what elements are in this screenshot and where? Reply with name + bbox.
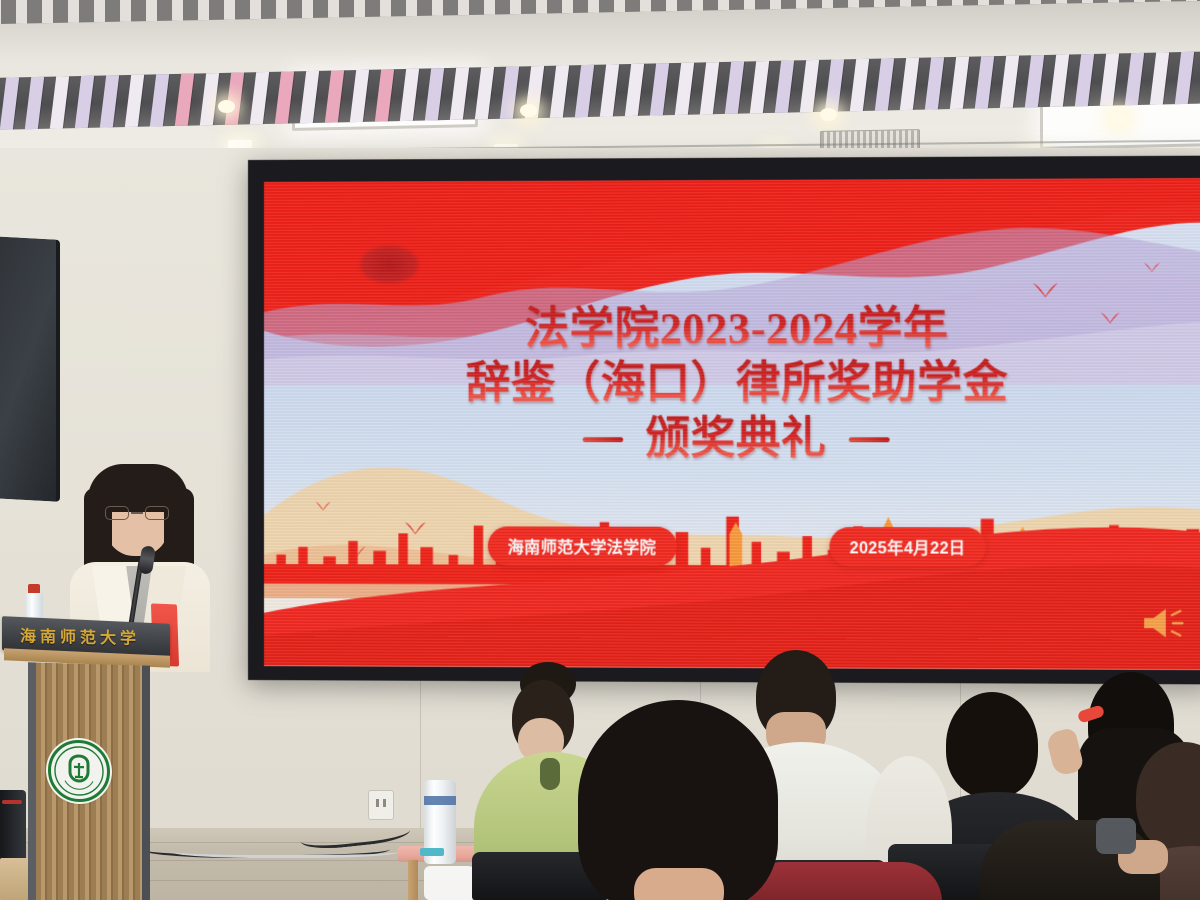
ceiling-baffle <box>449 65 469 123</box>
ceiling-baffle <box>574 62 594 120</box>
ceiling-slat <box>380 0 391 17</box>
ceiling-slat <box>432 0 443 16</box>
ceiling-slat <box>1082 0 1093 3</box>
ceiling-slat <box>562 0 573 13</box>
ceiling-baffle <box>1124 51 1144 108</box>
ceiling-slat <box>588 0 599 13</box>
ceiling-baffle <box>1149 51 1169 108</box>
ceiling-slat <box>848 0 859 8</box>
title-dash-right <box>849 437 890 442</box>
ceiling-slat <box>250 0 261 19</box>
podium-nameplate-text: 海南师范大学 <box>20 622 170 649</box>
date-badge: 2025年4月22日 <box>829 527 986 567</box>
ceiling-slat <box>770 0 781 9</box>
ceiling-baffle <box>74 73 94 130</box>
ceiling-baffle <box>924 54 944 112</box>
ceiling-baffle <box>474 64 494 122</box>
ceiling-baffle <box>974 53 994 111</box>
ceiling-baffle <box>799 57 819 115</box>
water-bottle-cap <box>28 584 40 593</box>
ceiling-slat <box>744 0 755 10</box>
ceiling-slat <box>978 0 989 5</box>
ceiling-baffle <box>699 59 719 117</box>
ceiling-slat <box>224 0 235 20</box>
ceiling-baffle <box>899 55 919 113</box>
ceiling-slat <box>328 0 339 18</box>
ceiling-baffle <box>24 74 44 130</box>
ceiling-spotlight-4 <box>1110 112 1127 125</box>
ceiling-slat <box>874 0 885 7</box>
collar-opening <box>540 758 560 790</box>
screen-title-block: 法学院2023-2024学年 辞鉴（海口）律所奖助学金 颁奖典礼 <box>264 301 1200 467</box>
ceiling-baffle <box>149 71 169 129</box>
ceiling-baffle <box>299 68 319 126</box>
ceiling-baffle <box>374 66 394 124</box>
ceiling-slat <box>718 0 729 10</box>
ceiling-slat <box>302 0 313 18</box>
ceiling-baffle <box>999 53 1019 111</box>
wall-power-outlet[interactable] <box>368 790 394 820</box>
ceiling-baffle <box>749 58 769 116</box>
ceiling-baffle <box>349 67 369 125</box>
ceiling-slat <box>146 0 157 21</box>
ceiling-slat <box>1030 0 1041 4</box>
ceiling-slat <box>1186 0 1197 1</box>
ceiling-baffle <box>324 67 344 125</box>
ceiling-slat <box>510 0 521 14</box>
podium: 海南师范大学 <box>6 620 166 900</box>
ceiling-slat <box>94 0 105 22</box>
ceiling-slat <box>692 0 703 11</box>
ceiling-baffle <box>1024 52 1044 110</box>
ceiling-slat <box>484 0 495 15</box>
ceiling-slat <box>926 0 937 6</box>
ceiling-slat <box>666 0 677 11</box>
head <box>1136 742 1200 852</box>
ceiling-baffle <box>1174 51 1194 107</box>
ceiling-baffle <box>874 55 894 113</box>
ceiling-baffle <box>399 66 419 124</box>
ceiling-baffle <box>124 72 144 130</box>
title-line-1: 法学院2023-2024学年 <box>264 301 1200 357</box>
ceiling-slat <box>354 0 365 17</box>
ceiling-slat <box>276 0 287 19</box>
head <box>946 692 1038 798</box>
university-emblem-graphic <box>53 744 105 797</box>
ceiling-baffle <box>624 61 644 119</box>
ceiling-slat <box>406 0 417 16</box>
ceiling-slat <box>0 0 1 24</box>
wall-display-dark[interactable] <box>0 236 60 502</box>
ceiling-baffle <box>1049 51 1069 109</box>
photo-scene: 法学院2023-2024学年 辞鉴（海口）律所奖助学金 颁奖典礼 海南师范大学法… <box>0 0 1200 900</box>
ceiling-slat <box>822 0 833 8</box>
handheld-device[interactable] <box>1096 818 1136 854</box>
university-emblem <box>48 739 110 803</box>
ceiling-baffle <box>249 69 269 127</box>
ceiling-baffle <box>499 63 519 121</box>
ceiling-slat <box>1160 0 1171 2</box>
led-display-screen[interactable]: 法学院2023-2024学年 辞鉴（海口）律所奖助学金 颁奖典礼 海南师范大学法… <box>248 156 1200 685</box>
ceiling-baffle <box>49 73 69 130</box>
ceiling-slat <box>120 0 131 22</box>
ceiling-slat <box>172 0 183 21</box>
ceiling-baffle <box>774 57 794 115</box>
ceiling-top-slats <box>0 0 1200 24</box>
title-line-3: 颁奖典礼 <box>646 412 827 466</box>
volume-speaker-icon[interactable] <box>1139 603 1186 644</box>
title-line-2: 辞鉴（海口）律所奖助学金 <box>264 356 1200 411</box>
ceiling-spotlight-2 <box>520 104 537 117</box>
ceiling-slat <box>198 0 209 20</box>
ceiling-baffle <box>549 62 569 120</box>
ceiling-slat <box>640 0 651 12</box>
ceiling-slat <box>1056 0 1067 4</box>
screen-badges: 海南师范大学法学院 2025年4月22日 <box>264 526 1200 567</box>
ceiling-slat <box>42 0 53 23</box>
ceiling-baffle <box>1074 51 1094 109</box>
thermos-band <box>424 796 456 805</box>
audience-person-foreground-center <box>560 700 820 900</box>
ceiling-slat <box>1134 0 1145 2</box>
ceiling-baffle <box>199 70 219 128</box>
ceiling-slat <box>16 0 27 24</box>
desk-leg <box>408 860 418 900</box>
ceiling-baffle <box>424 65 444 123</box>
ceiling-baffle <box>1099 51 1119 109</box>
ceiling-baffle <box>174 71 194 129</box>
ceiling-slat <box>796 0 807 9</box>
tissue-pack <box>424 866 478 900</box>
ceiling-slat <box>458 0 469 15</box>
ceiling-baffle <box>599 61 619 119</box>
ceiling-baffle <box>99 72 119 130</box>
title-dash-left <box>583 437 623 442</box>
ceiling-slat <box>1004 0 1015 5</box>
ceiling-slat <box>900 0 911 7</box>
ceiling-baffle <box>949 54 969 112</box>
ceiling-baffle <box>274 68 294 126</box>
ceiling-slat <box>536 0 547 14</box>
ceiling-slat <box>68 0 79 23</box>
ceiling-baffle <box>674 60 694 118</box>
ceiling-slat <box>952 0 963 6</box>
small-device[interactable] <box>420 848 444 856</box>
ceiling-spotlight-3 <box>820 108 837 121</box>
ceiling-slat <box>614 0 625 12</box>
speaker-glasses-icon <box>105 506 169 520</box>
ceiling-baffle <box>649 60 669 118</box>
organizer-badge: 海南师范大学法学院 <box>488 526 677 566</box>
led-screen-content: 法学院2023-2024学年 辞鉴（海口）律所奖助学金 颁奖典礼 海南师范大学法… <box>264 178 1200 670</box>
ceiling-slat <box>1108 0 1119 3</box>
ceiling-baffle <box>824 56 844 114</box>
ceiling-spotlight-1 <box>218 100 235 113</box>
ceiling-baffle <box>849 56 869 114</box>
ceiling-baffle <box>224 69 244 127</box>
ceiling-baffle <box>724 59 744 117</box>
ceiling-baffle <box>0 74 20 130</box>
neck-skin <box>634 868 724 900</box>
